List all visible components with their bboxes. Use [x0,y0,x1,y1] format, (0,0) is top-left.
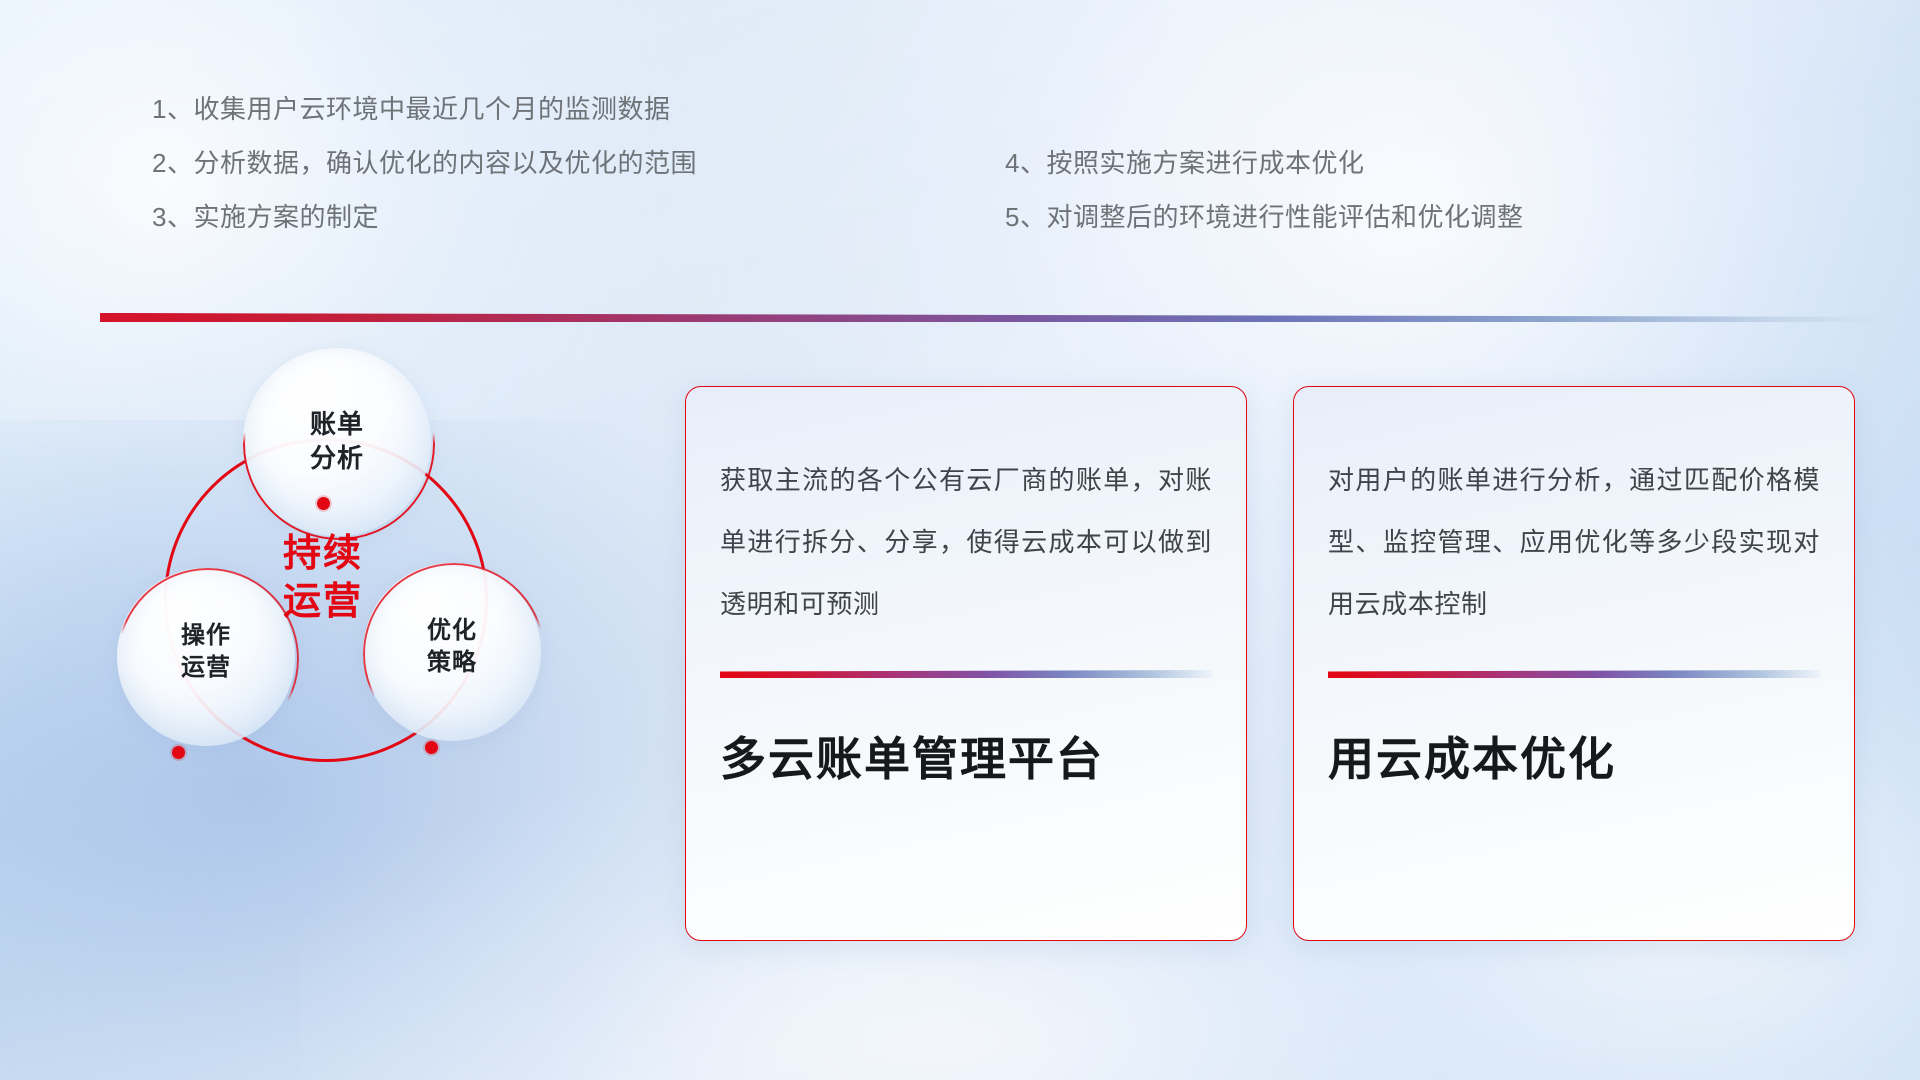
step-item: 3、实施方案的制定 [152,204,697,230]
venn-label-operations: 操作 运营 [117,620,295,684]
step-item: 1、收集用户云环境中最近几个月的监测数据 [152,96,697,122]
steps-section: 1、收集用户云环境中最近几个月的监测数据 2、分析数据，确认优化的内容以及优化的… [0,0,1920,250]
venn-diagram: 账单 分析 操作 运营 优化 策略 持续 运营 [100,355,640,935]
venn-label-billing-analysis: 账单 分析 [243,407,431,475]
step-item: 4、按照实施方案进行成本优化 [1005,150,1523,176]
venn-center-label-line: 运营 [164,578,482,626]
info-card-multicloud-billing[interactable]: 获取主流的各个公有云厂商的账单，对账单进行拆分、分享，使得云成本可以做到透明和可… [685,386,1247,941]
card-title: 多云账单管理平台 [720,732,1212,787]
info-card-cloud-cost-optimization[interactable]: 对用户的账单进行分析，通过匹配价格模型、监控管理、应用优化等多少段实现对用云成本… [1293,386,1855,941]
card-divider-line [720,670,1212,678]
venn-label-line: 账单 [243,407,431,441]
card-body-text: 对用户的账单进行分析，通过匹配价格模型、监控管理、应用优化等多少段实现对用云成本… [1328,449,1820,635]
steps-column-right: 4、按照实施方案进行成本优化 5、对调整后的环境进行性能评估和优化调整 [1005,150,1523,258]
venn-label-line: 策略 [363,647,541,679]
venn-node-dot-right [425,741,438,754]
card-divider-line [1328,670,1820,678]
venn-center-label: 持续 运营 [164,530,482,626]
slide-canvas: 1、收集用户云环境中最近几个月的监测数据 2、分析数据，确认优化的内容以及优化的… [0,0,1920,1080]
venn-node-dot-top [317,497,330,510]
card-title: 用云成本优化 [1328,732,1820,787]
venn-node-dot-left [172,746,185,759]
venn-label-line: 分析 [243,441,431,475]
venn-label-line: 运营 [117,652,295,684]
card-body-text: 获取主流的各个公有云厂商的账单，对账单进行拆分、分享，使得云成本可以做到透明和可… [720,449,1212,635]
venn-center-label-line: 持续 [164,530,482,578]
steps-column-left: 1、收集用户云环境中最近几个月的监测数据 2、分析数据，确认优化的内容以及优化的… [152,96,697,258]
step-item: 5、对调整后的环境进行性能评估和优化调整 [1005,204,1523,230]
step-item: 2、分析数据，确认优化的内容以及优化的范围 [152,150,697,176]
